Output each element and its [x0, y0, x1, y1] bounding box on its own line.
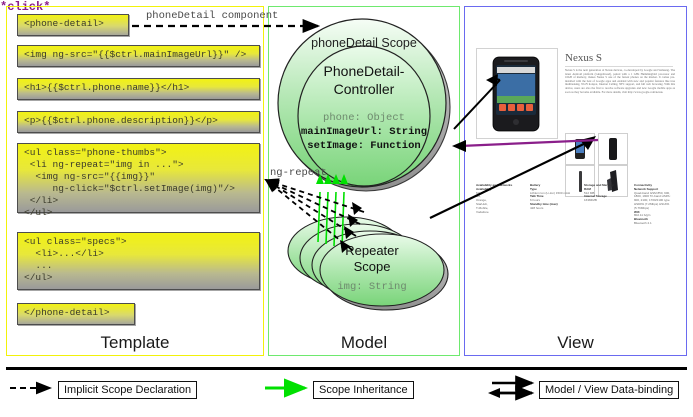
code-box-open-tag: <phone-detail>	[17, 14, 129, 36]
diagram-canvas: Template Model View <phone-detail> <img …	[0, 0, 693, 417]
view-product-description: Nexus S is the next generation of Nexus …	[565, 69, 675, 129]
code-box-h1-tag: <h1>{{$ctrl.phone.name}}</h1>	[17, 78, 260, 100]
panel-view-label: View	[465, 333, 686, 353]
code-box-p-tag: <p>{{$ctrl.phone.description}}</p>	[17, 111, 260, 133]
view-spec-column-availability: Availability and Networks Availability M…	[476, 184, 524, 214]
code-box-thumbs-list: <ul class="phone-thumbs"> <li ng-repeat=…	[17, 143, 260, 213]
panel-template-label: Template	[7, 333, 263, 353]
connector-label-ng-repeat: ng-repeat	[270, 167, 327, 179]
legend-label-data-binding: Model / View Data-binding	[539, 381, 679, 399]
code-box-close-tag: </phone-detail>	[17, 303, 135, 325]
view-spec-column-storage: Storage and Memory RAM 512 MB Internal S…	[584, 184, 632, 203]
phone-main-image	[491, 56, 541, 132]
view-spec-column-battery: Battery Type Lithium Ion (Li-Ion) 1500 m…	[530, 184, 578, 211]
view-thumbnail-front[interactable]	[565, 133, 595, 165]
view-thumbnail-back[interactable]	[598, 133, 628, 165]
view-main-image-frame	[476, 48, 558, 139]
spec-line: 16384MB	[584, 198, 597, 202]
code-box-img-tag: <img ng-src="{{$ctrl.mainImageUrl}}" />	[17, 45, 260, 67]
view-product-title: Nexus S	[565, 52, 677, 64]
legend-label-scope-inheritance: Scope Inheritance	[313, 381, 414, 399]
spec-subheading: Availability	[476, 188, 524, 192]
connector-label-component: phoneDetail component	[146, 10, 278, 22]
spec-line: 428 hours	[530, 206, 543, 210]
model-scope-graphics	[268, 6, 460, 356]
spec-line: Bluetooth 2.1	[634, 221, 652, 225]
view-spec-column-connectivity: Connectivity Network Support Quad-band G…	[634, 184, 682, 226]
spec-line: Vodafone	[476, 210, 489, 214]
legend-label-implicit-scope: Implicit Scope Declaration	[58, 381, 197, 399]
view-title-divider	[565, 66, 673, 67]
code-box-specs-list: <ul class="specs"> <li>...</li> ... </ul…	[17, 232, 260, 290]
